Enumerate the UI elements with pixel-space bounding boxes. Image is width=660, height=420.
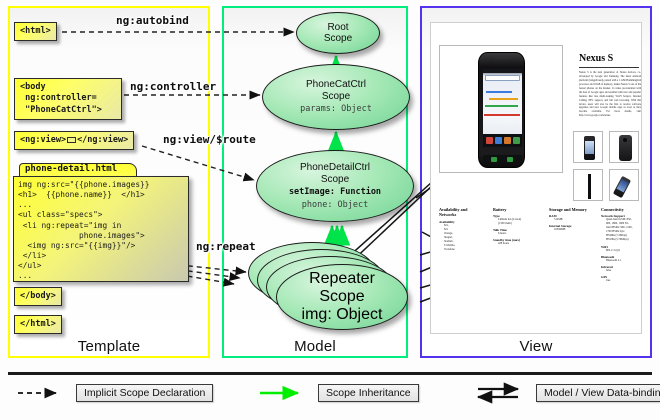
edge-label-autobind: ng:autobind	[116, 14, 189, 27]
spec-value: true	[606, 279, 645, 283]
scope-rep-property: img: Object	[302, 306, 383, 324]
panel-label-template: Template	[8, 338, 210, 355]
scope-root: Root Scope	[296, 12, 380, 54]
dock-app-icon-3	[504, 137, 511, 144]
legend-item-data-binding: Model / View Data-binding	[472, 382, 660, 404]
tag-html-close: </html>	[14, 315, 62, 334]
scope-phonecatctrl: PhoneCatCtrl Scope params: Object	[262, 64, 410, 130]
scope-repeater-stack: Repeater Scope img: Object	[248, 238, 414, 338]
spec-header-1: Availability and Networks	[439, 207, 483, 218]
legend-item-scope-inheritance: Scope Inheritance	[254, 382, 419, 404]
legend-item-implicit-scope: Implicit Scope Declaration	[12, 382, 213, 404]
scope-cat-property: params: Object	[300, 104, 372, 114]
spec-header-2: Battery	[493, 207, 537, 212]
thumbnail-1[interactable]	[573, 131, 603, 163]
nexus-s-hero-image	[478, 52, 525, 168]
scope-rep-title-1: Repeater	[309, 270, 375, 288]
spec-value: Vodafone	[444, 248, 483, 252]
scope-root-title-1: Root	[327, 22, 348, 34]
scope-cat-title-1: PhoneCatCtrl	[306, 79, 366, 91]
scope-rep-title-2: Scope	[319, 288, 364, 306]
diagram-canvas: <html> <body ng:controller= "PhoneCatCtr…	[0, 0, 660, 420]
rendered-view-document: Nexus S Nexus S is the next generation o…	[430, 22, 642, 334]
scope-cat-title-2: Scope	[322, 91, 350, 103]
ngview-close-label: </ng:view>	[77, 135, 128, 145]
spec-value: 512MB	[554, 218, 597, 222]
spec-header-3: Storage and Memory	[549, 207, 597, 212]
thumbnail-2[interactable]	[609, 131, 639, 163]
spec-value: 16384MB	[554, 228, 597, 232]
tag-body-close: </body>	[14, 287, 62, 306]
spec-column-storage: Storage and Memory RAM 512MB Internal St…	[549, 207, 597, 232]
ngview-open-label: <ng:view>	[20, 135, 66, 145]
dock-app-icon-4	[513, 137, 520, 144]
callout-code: img ng:src="{{phone.images}} <h1> {{phon…	[13, 176, 189, 282]
title-underline	[579, 67, 639, 68]
thumb-phone-angle-icon	[613, 176, 631, 198]
tag-html-open: <html>	[14, 22, 57, 41]
view-product-description: Nexus S is the next generation of Nexus …	[579, 71, 641, 118]
edge-label-ngview: ng:view/$route	[163, 133, 256, 146]
legend-label-3: Model / View Data-binding	[536, 384, 660, 402]
thumbnail-4[interactable]	[609, 169, 639, 201]
tag-body-open: <body ng:controller= "PhoneCatCtrl">	[14, 78, 122, 120]
phone-dock	[483, 134, 522, 147]
tag-ngview: <ng:view></ng:view>	[14, 131, 134, 150]
scope-root-title-2: Scope	[324, 33, 352, 45]
phone-speaker-icon	[494, 57, 511, 59]
double-arrow-icon	[472, 382, 530, 404]
scope-detail-title-2: Scope	[321, 174, 349, 186]
phone-softkeys	[483, 155, 522, 163]
scope-detail-property-phone: phone: Object	[302, 200, 369, 210]
wallpaper-stripe-green	[485, 105, 518, 107]
spec-column-availability: Availability and Networks Availability M…	[439, 207, 483, 252]
hero-image-frame	[439, 45, 563, 173]
thumbnail-3[interactable]	[573, 169, 603, 201]
dock-app-icon-1	[486, 137, 493, 144]
scope-detail-title-1: PhoneDetailCtrl	[300, 162, 370, 174]
wallpaper-stripe-blue	[486, 91, 512, 93]
phone-statusbar	[483, 69, 522, 73]
legend-label-1: Implicit Scope Declaration	[76, 384, 213, 402]
panel-label-model: Model	[222, 338, 408, 355]
wallpaper-stripe-yellow	[489, 98, 518, 100]
legend-label-2: Scope Inheritance	[318, 384, 419, 402]
spec-column-connectivity: Connectivity Network Support Quad-band G…	[601, 207, 645, 283]
ngview-placeholder-icon	[67, 137, 76, 143]
spec-value: (1500 mAh)	[498, 222, 537, 226]
green-arrow-icon	[254, 382, 312, 404]
dock-app-icon-2	[495, 137, 502, 144]
spec-header-4: Connectivity	[601, 207, 645, 212]
thumb-phone-front-icon	[584, 136, 595, 160]
spec-value: false	[606, 269, 645, 273]
thumb-phone-edge-icon	[588, 174, 591, 199]
view-product-title: Nexus S	[579, 53, 613, 64]
spec-value: HSUPA (5.76Mbps)	[606, 238, 645, 242]
edge-label-controller: ng:controller	[130, 80, 216, 93]
spec-column-battery: Battery Type Lithium Ion (Li-Ion) (1500 …	[493, 207, 537, 246]
scope-detail-property-setimage: setImage: Function	[289, 187, 381, 197]
softkey-1-icon	[491, 157, 497, 162]
scope-phonedetailctrl: PhoneDetailCtrl Scope setImage: Function…	[256, 150, 414, 222]
dashed-arrow-icon	[12, 382, 70, 404]
spec-value: 6 hours	[498, 232, 537, 236]
spec-value: 428 hours	[498, 242, 537, 246]
repeater-scope-front: Repeater Scope img: Object	[276, 264, 408, 330]
wallpaper-stripe-red	[484, 114, 520, 116]
softkey-2-icon	[507, 157, 513, 162]
phone-screen	[483, 69, 522, 147]
spec-value: 802.11 b/g/n	[606, 249, 645, 253]
legend: Implicit Scope Declaration Scope Inherit…	[8, 382, 652, 408]
callout-filename: phone-detail.html	[25, 164, 117, 174]
panel-label-view: View	[420, 338, 652, 355]
edge-label-repeat: ng:repeat	[196, 240, 256, 253]
template-callout: phone-detail.html img ng:src="{{phone.im…	[13, 163, 191, 285]
spec-table: Availability and Networks Availability M…	[437, 207, 639, 277]
spec-value: Bluetooth 2.1	[606, 259, 645, 263]
thumb-phone-back-icon	[619, 135, 632, 161]
phone-search-widget	[485, 75, 520, 81]
legend-divider	[8, 372, 652, 375]
